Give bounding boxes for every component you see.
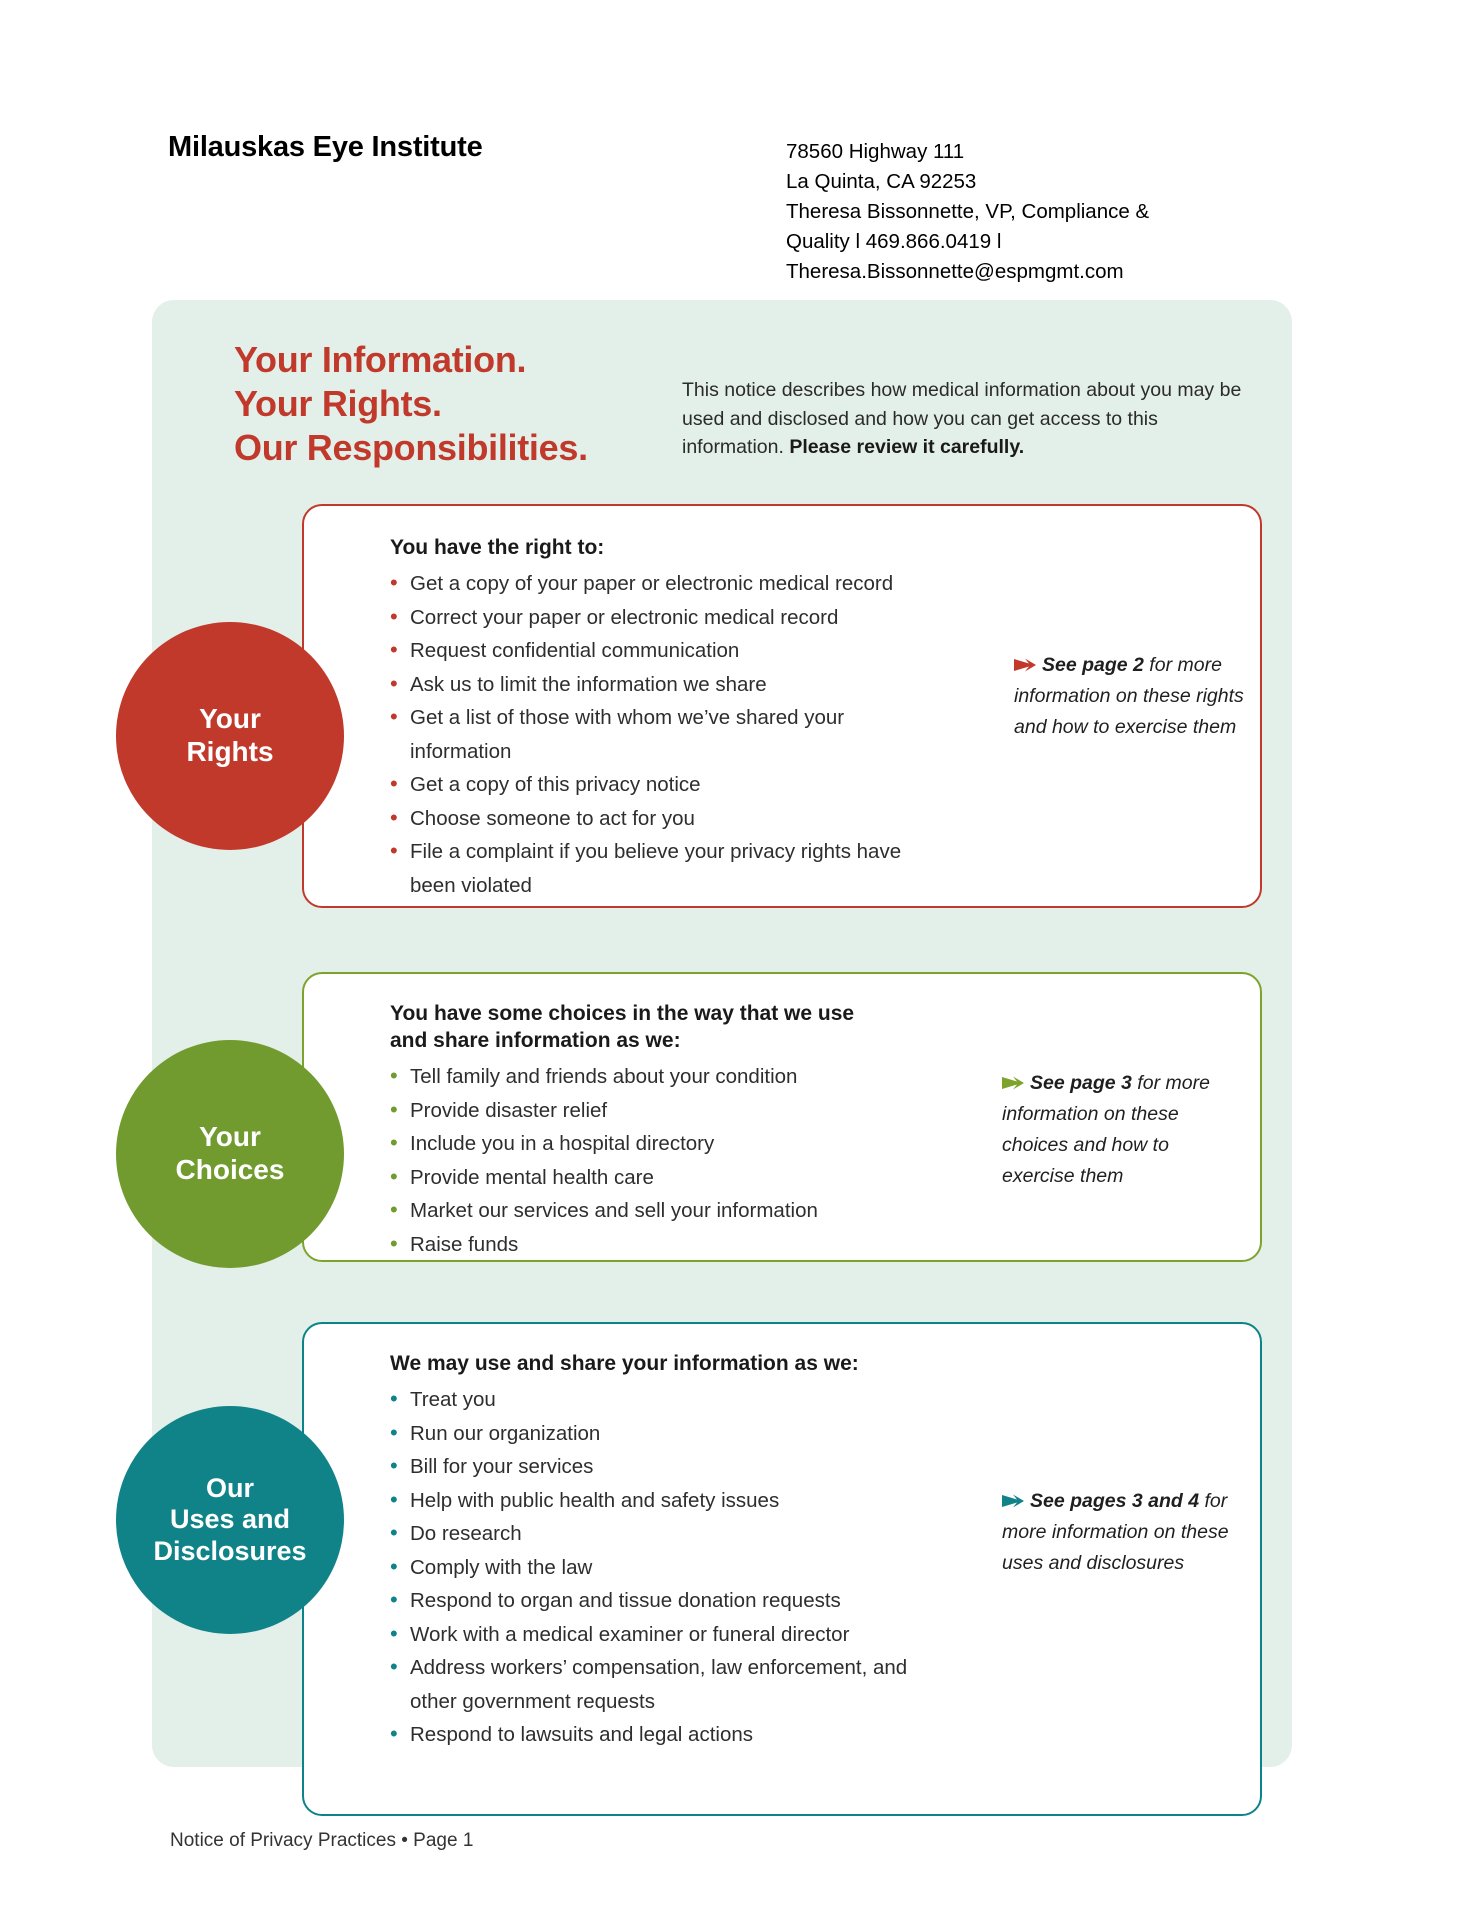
list-item: Choose someone to act for you xyxy=(390,802,950,836)
headline-line-3: Our Responsibilities. xyxy=(234,426,654,470)
list-item: Request confidential communication xyxy=(390,634,950,668)
section-heading-our-uses-and-disclosures: We may use and share your information as… xyxy=(390,1350,950,1377)
headline-line-2: Your Rights. xyxy=(234,382,654,426)
contact-line-city: La Quinta, CA 92253 xyxy=(786,167,1256,197)
list-item: Do research xyxy=(390,1517,950,1551)
section-badge-your-choices: Your Choices xyxy=(116,1040,344,1268)
contact-line-phone: Quality l 469.866.0419 l xyxy=(786,227,1256,257)
contact-line-street: 78560 Highway 111 xyxy=(786,137,1256,167)
page-footer: Notice of Privacy Practices • Page 1 xyxy=(170,1830,473,1852)
badge-line-2: Choices xyxy=(176,1154,285,1187)
list-item: Bill for your services xyxy=(390,1450,950,1484)
section-badge-our-uses-and-disclosures: Our Uses and Disclosures xyxy=(116,1406,344,1634)
list-item: Treat you xyxy=(390,1383,950,1417)
section-content-your-rights: You have the right to: Get a copy of you… xyxy=(390,534,950,902)
list-item: Comply with the law xyxy=(390,1551,950,1585)
sidenote-our-uses-and-disclosures: See pages 3 and 4 for more information o… xyxy=(1002,1486,1232,1579)
headline-line-1: Your Information. xyxy=(234,338,654,382)
list-item: Tell family and friends about your condi… xyxy=(390,1060,890,1094)
list-item: Ask us to limit the information we share xyxy=(390,668,950,702)
list-item: Correct your paper or electronic medical… xyxy=(390,601,950,635)
sidenote-lead: See page 3 xyxy=(1030,1072,1132,1094)
section-list-your-rights: Get a copy of your paper or electronic m… xyxy=(390,567,950,902)
list-item: Provide mental health care xyxy=(390,1161,890,1195)
section-content-our-uses-and-disclosures: We may use and share your information as… xyxy=(390,1350,950,1752)
intro-paragraph: This notice describes how medical inform… xyxy=(682,376,1262,462)
arrow-right-icon xyxy=(1002,1069,1024,1083)
contact-line-email: Theresa.Bissonnette@espmgmt.com xyxy=(786,257,1256,287)
badge-line-2: Rights xyxy=(186,736,273,769)
intro-emphasis: Please review it carefully. xyxy=(789,436,1024,458)
list-item: Get a copy of this privacy notice xyxy=(390,768,950,802)
section-heading-your-rights: You have the right to: xyxy=(390,534,950,561)
list-item: Raise funds xyxy=(390,1228,890,1262)
list-item: Get a list of those with whom we’ve shar… xyxy=(390,701,950,768)
list-item: Help with public health and safety issue… xyxy=(390,1484,950,1518)
list-item: Respond to organ and tissue donation req… xyxy=(390,1584,950,1618)
section-badge-your-rights: Your Rights xyxy=(116,622,344,850)
list-item: Work with a medical examiner or funeral … xyxy=(390,1618,950,1652)
sidenote-your-choices: See page 3 for more information on these… xyxy=(1002,1068,1232,1192)
list-item: Respond to lawsuits and legal actions xyxy=(390,1718,950,1752)
list-item: Address workers’ compensation, law enfor… xyxy=(390,1651,950,1718)
badge-line-2: Uses and xyxy=(153,1504,306,1536)
organization-name: Milauskas Eye Institute xyxy=(168,131,483,164)
section-content-your-choices: You have some choices in the way that we… xyxy=(390,1000,890,1261)
sidenote-your-rights: See page 2 for more information on these… xyxy=(1014,650,1244,743)
list-item: Run our organization xyxy=(390,1417,950,1451)
section-list-your-choices: Tell family and friends about your condi… xyxy=(390,1060,890,1261)
contact-block: 78560 Highway 111 La Quinta, CA 92253 Th… xyxy=(786,137,1256,287)
arrow-right-icon xyxy=(1002,1487,1024,1501)
arrow-right-icon xyxy=(1014,651,1036,665)
document-header: Milauskas Eye Institute 78560 Highway 11… xyxy=(0,0,1484,300)
badge-line-1: Your xyxy=(176,1121,285,1154)
sidenote-lead: See pages 3 and 4 xyxy=(1030,1490,1199,1512)
contact-line-name: Theresa Bissonnette, VP, Compliance & xyxy=(786,197,1256,227)
sidenote-lead: See page 2 xyxy=(1042,654,1144,676)
page-title: Your Information. Your Rights. Our Respo… xyxy=(234,338,654,470)
section-heading-your-choices: You have some choices in the way that we… xyxy=(390,1000,890,1054)
list-item: Include you in a hospital directory xyxy=(390,1127,890,1161)
list-item: Provide disaster relief xyxy=(390,1094,890,1128)
section-list-our-uses-and-disclosures: Treat you Run our organization Bill for … xyxy=(390,1383,950,1752)
list-item: Market our services and sell your inform… xyxy=(390,1194,890,1228)
list-item: File a complaint if you believe your pri… xyxy=(390,835,950,902)
list-item: Get a copy of your paper or electronic m… xyxy=(390,567,950,601)
badge-line-3: Disclosures xyxy=(153,1536,306,1568)
badge-line-1: Your xyxy=(186,703,273,736)
badge-line-1: Our xyxy=(153,1473,306,1505)
